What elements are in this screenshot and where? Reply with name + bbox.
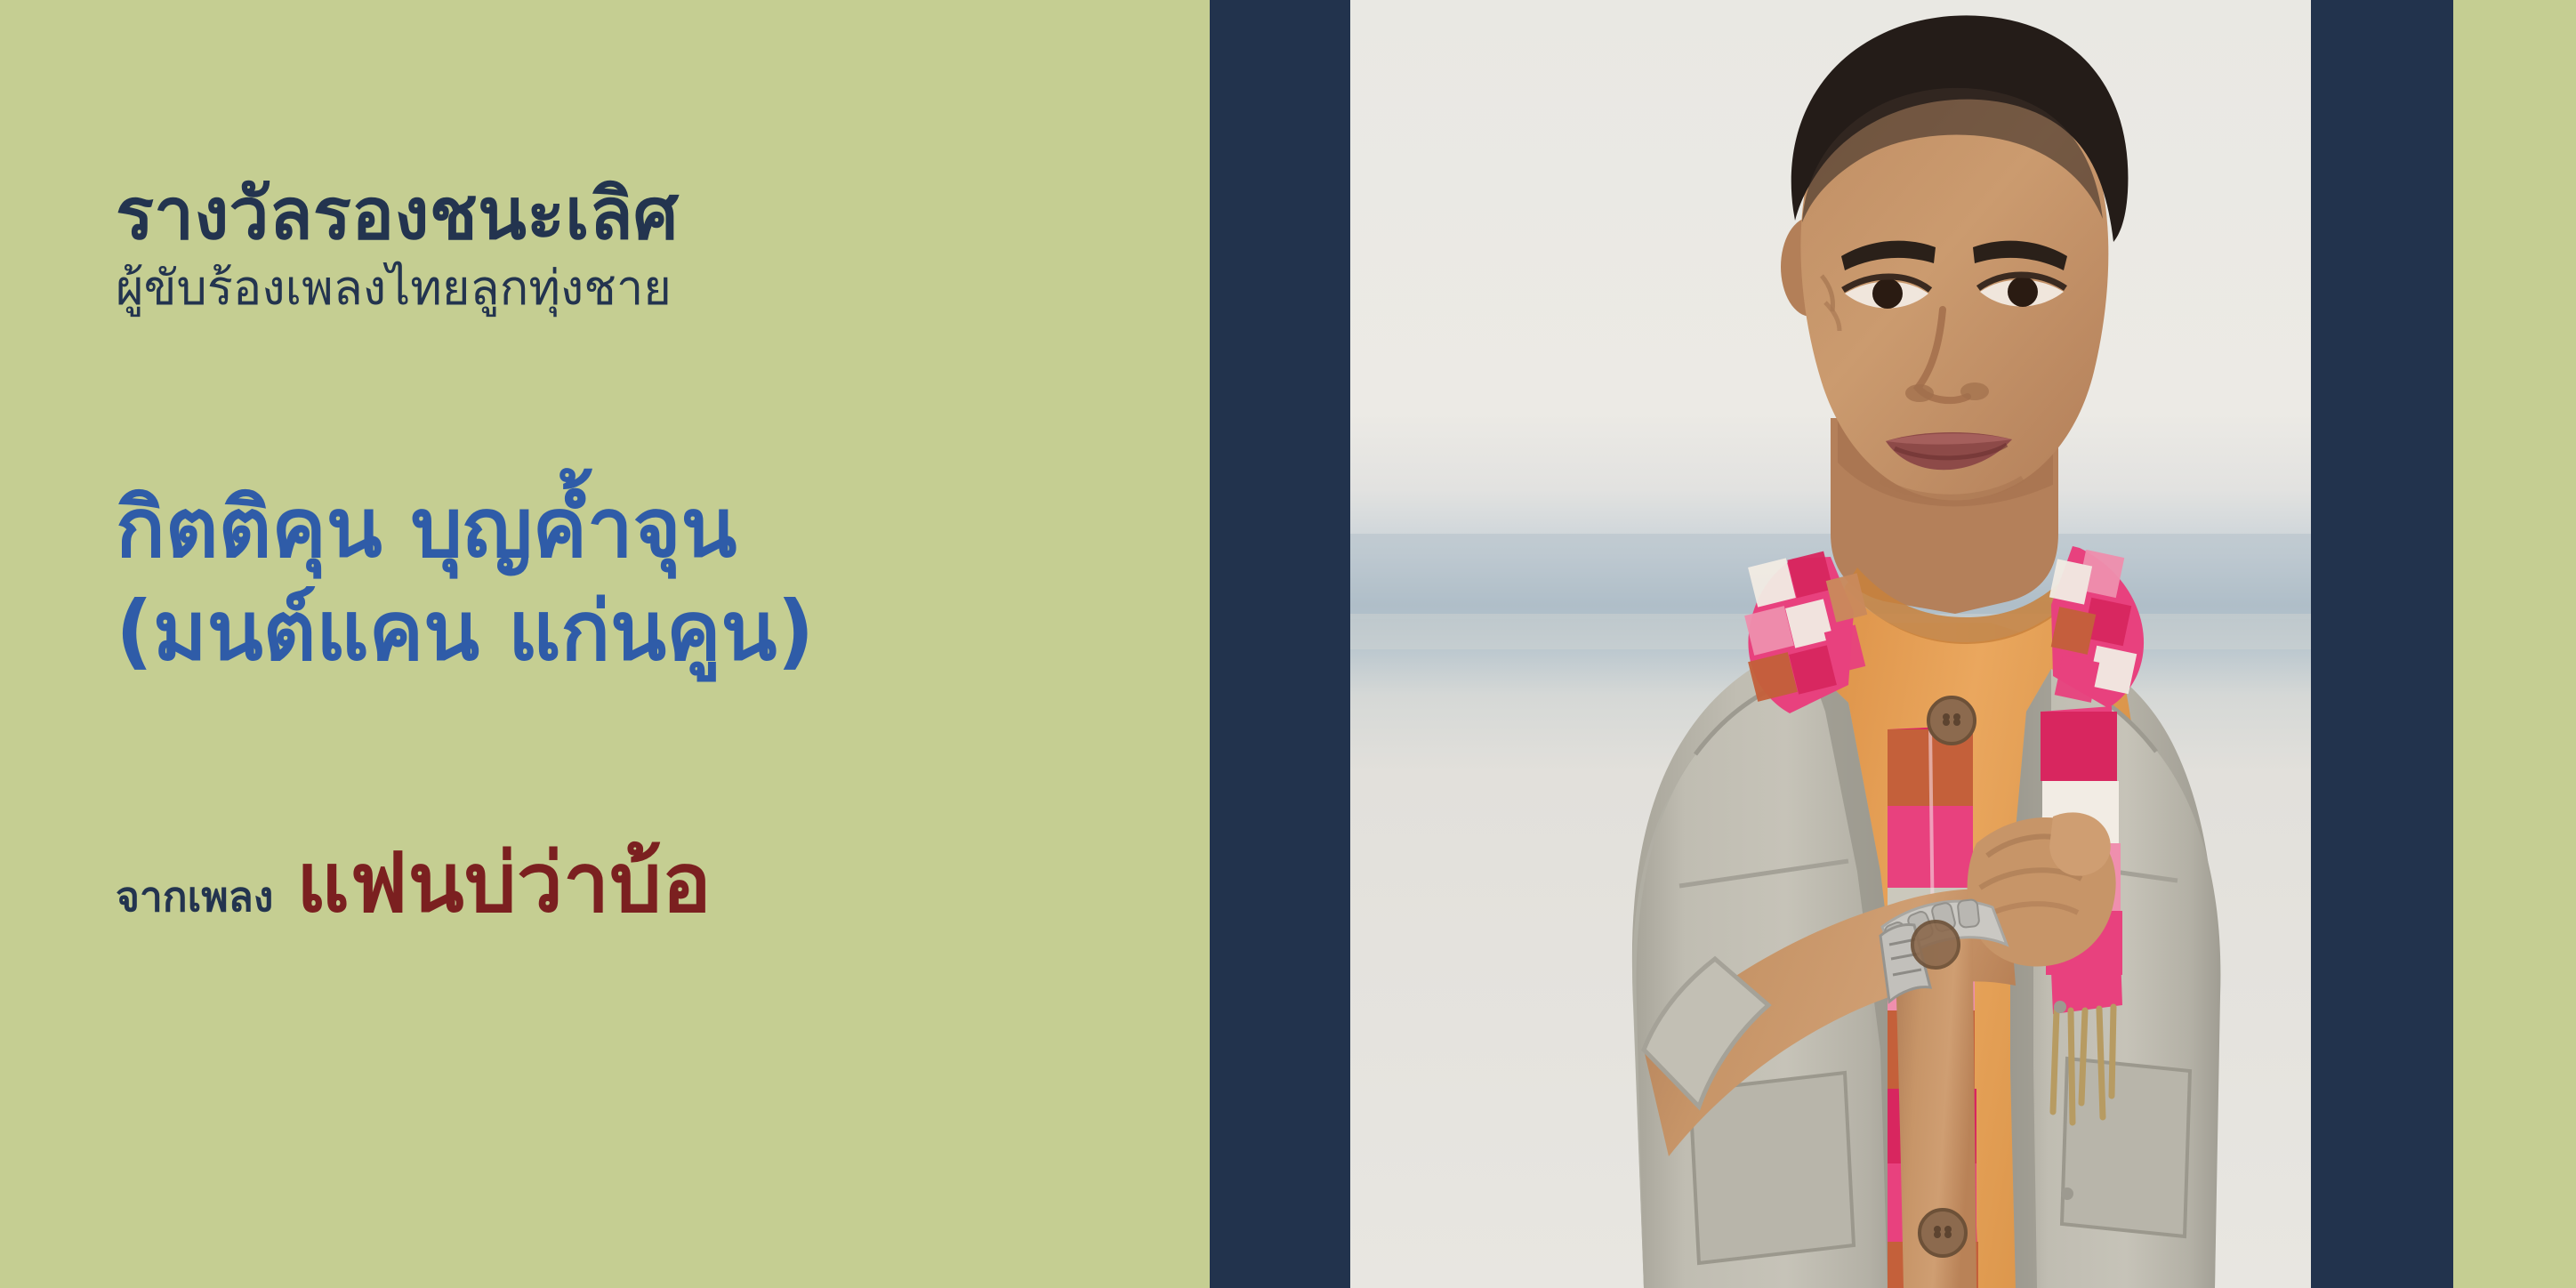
winner-portrait-photo	[1350, 0, 2311, 1288]
award-title: รางวัลรองชนะเลิศ	[116, 174, 1210, 254]
jacket-button-top	[1928, 697, 1975, 744]
award-banner: รางวัลรองชนะเลิศ ผู้ขับร้องเพลงไทยลูกทุ่…	[0, 0, 2576, 1288]
winner-real-name: กิตติคุน บุญค้ำจุน	[116, 477, 1210, 580]
navy-bar-left	[1210, 0, 1350, 1288]
song-title: แฟนบ่ว่าบ้อ	[296, 817, 712, 947]
jacket-button-low	[1920, 1210, 1966, 1256]
song-row: จากเพลง แฟนบ่ว่าบ้อ	[116, 817, 1210, 947]
song-prefix-label: จากเพลง	[116, 865, 273, 930]
award-subtitle: ผู้ขับร้องเพลงไทยลูกทุ่งชาย	[116, 260, 1210, 318]
winner-block: กิตติคุน บุญค้ำจุน (มนต์แคน แก่นคูน)	[116, 477, 1210, 683]
navy-bar-right	[2311, 0, 2453, 1288]
winner-stage-name: (มนต์แคน แก่นคูน)	[116, 580, 1210, 683]
text-panel: รางวัลรองชนะเลิศ ผู้ขับร้องเพลงไทยลูกทุ่…	[0, 0, 1210, 1288]
jacket-button-mid	[1912, 922, 1959, 968]
portrait-illustration	[1350, 0, 2311, 1288]
